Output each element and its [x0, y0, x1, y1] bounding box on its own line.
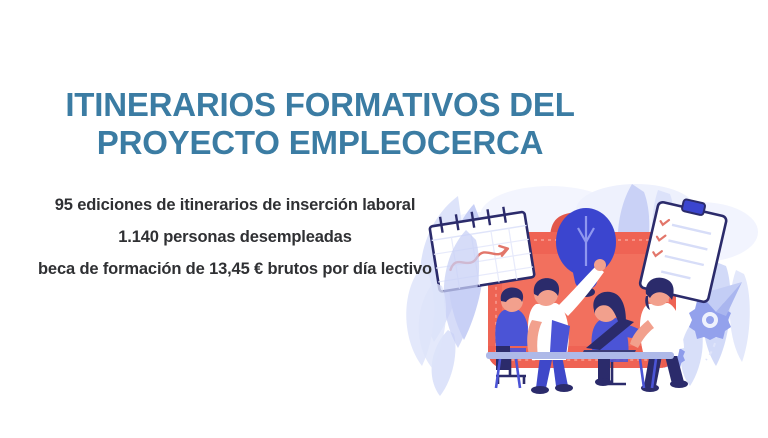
page-title: ITINERARIOS FORMATIVOS DEL PROYECTO EMPL… [0, 88, 640, 159]
facts-list: 95 ediciones de itinerarios de inserción… [0, 196, 470, 279]
raised-hand [594, 259, 606, 271]
title-line-2: PROYECTO EMPLEOCERCA [0, 126, 640, 160]
fact-item-grant: beca de formación de 13,45 € brutos por … [0, 260, 470, 279]
title-line-1: ITINERARIOS FORMATIVOS DEL [0, 88, 640, 122]
fact-item-people: 1.140 personas desempleadas [0, 228, 470, 247]
fact-item-editions: 95 ediciones de itinerarios de inserción… [0, 196, 470, 215]
poster-canvas: ITINERARIOS FORMATIVOS DEL PROYECTO EMPL… [0, 0, 768, 438]
title-line-2-main: PROYECTO EMPLEO [97, 124, 427, 161]
title-line-2-suffix: CERCA [427, 124, 543, 161]
